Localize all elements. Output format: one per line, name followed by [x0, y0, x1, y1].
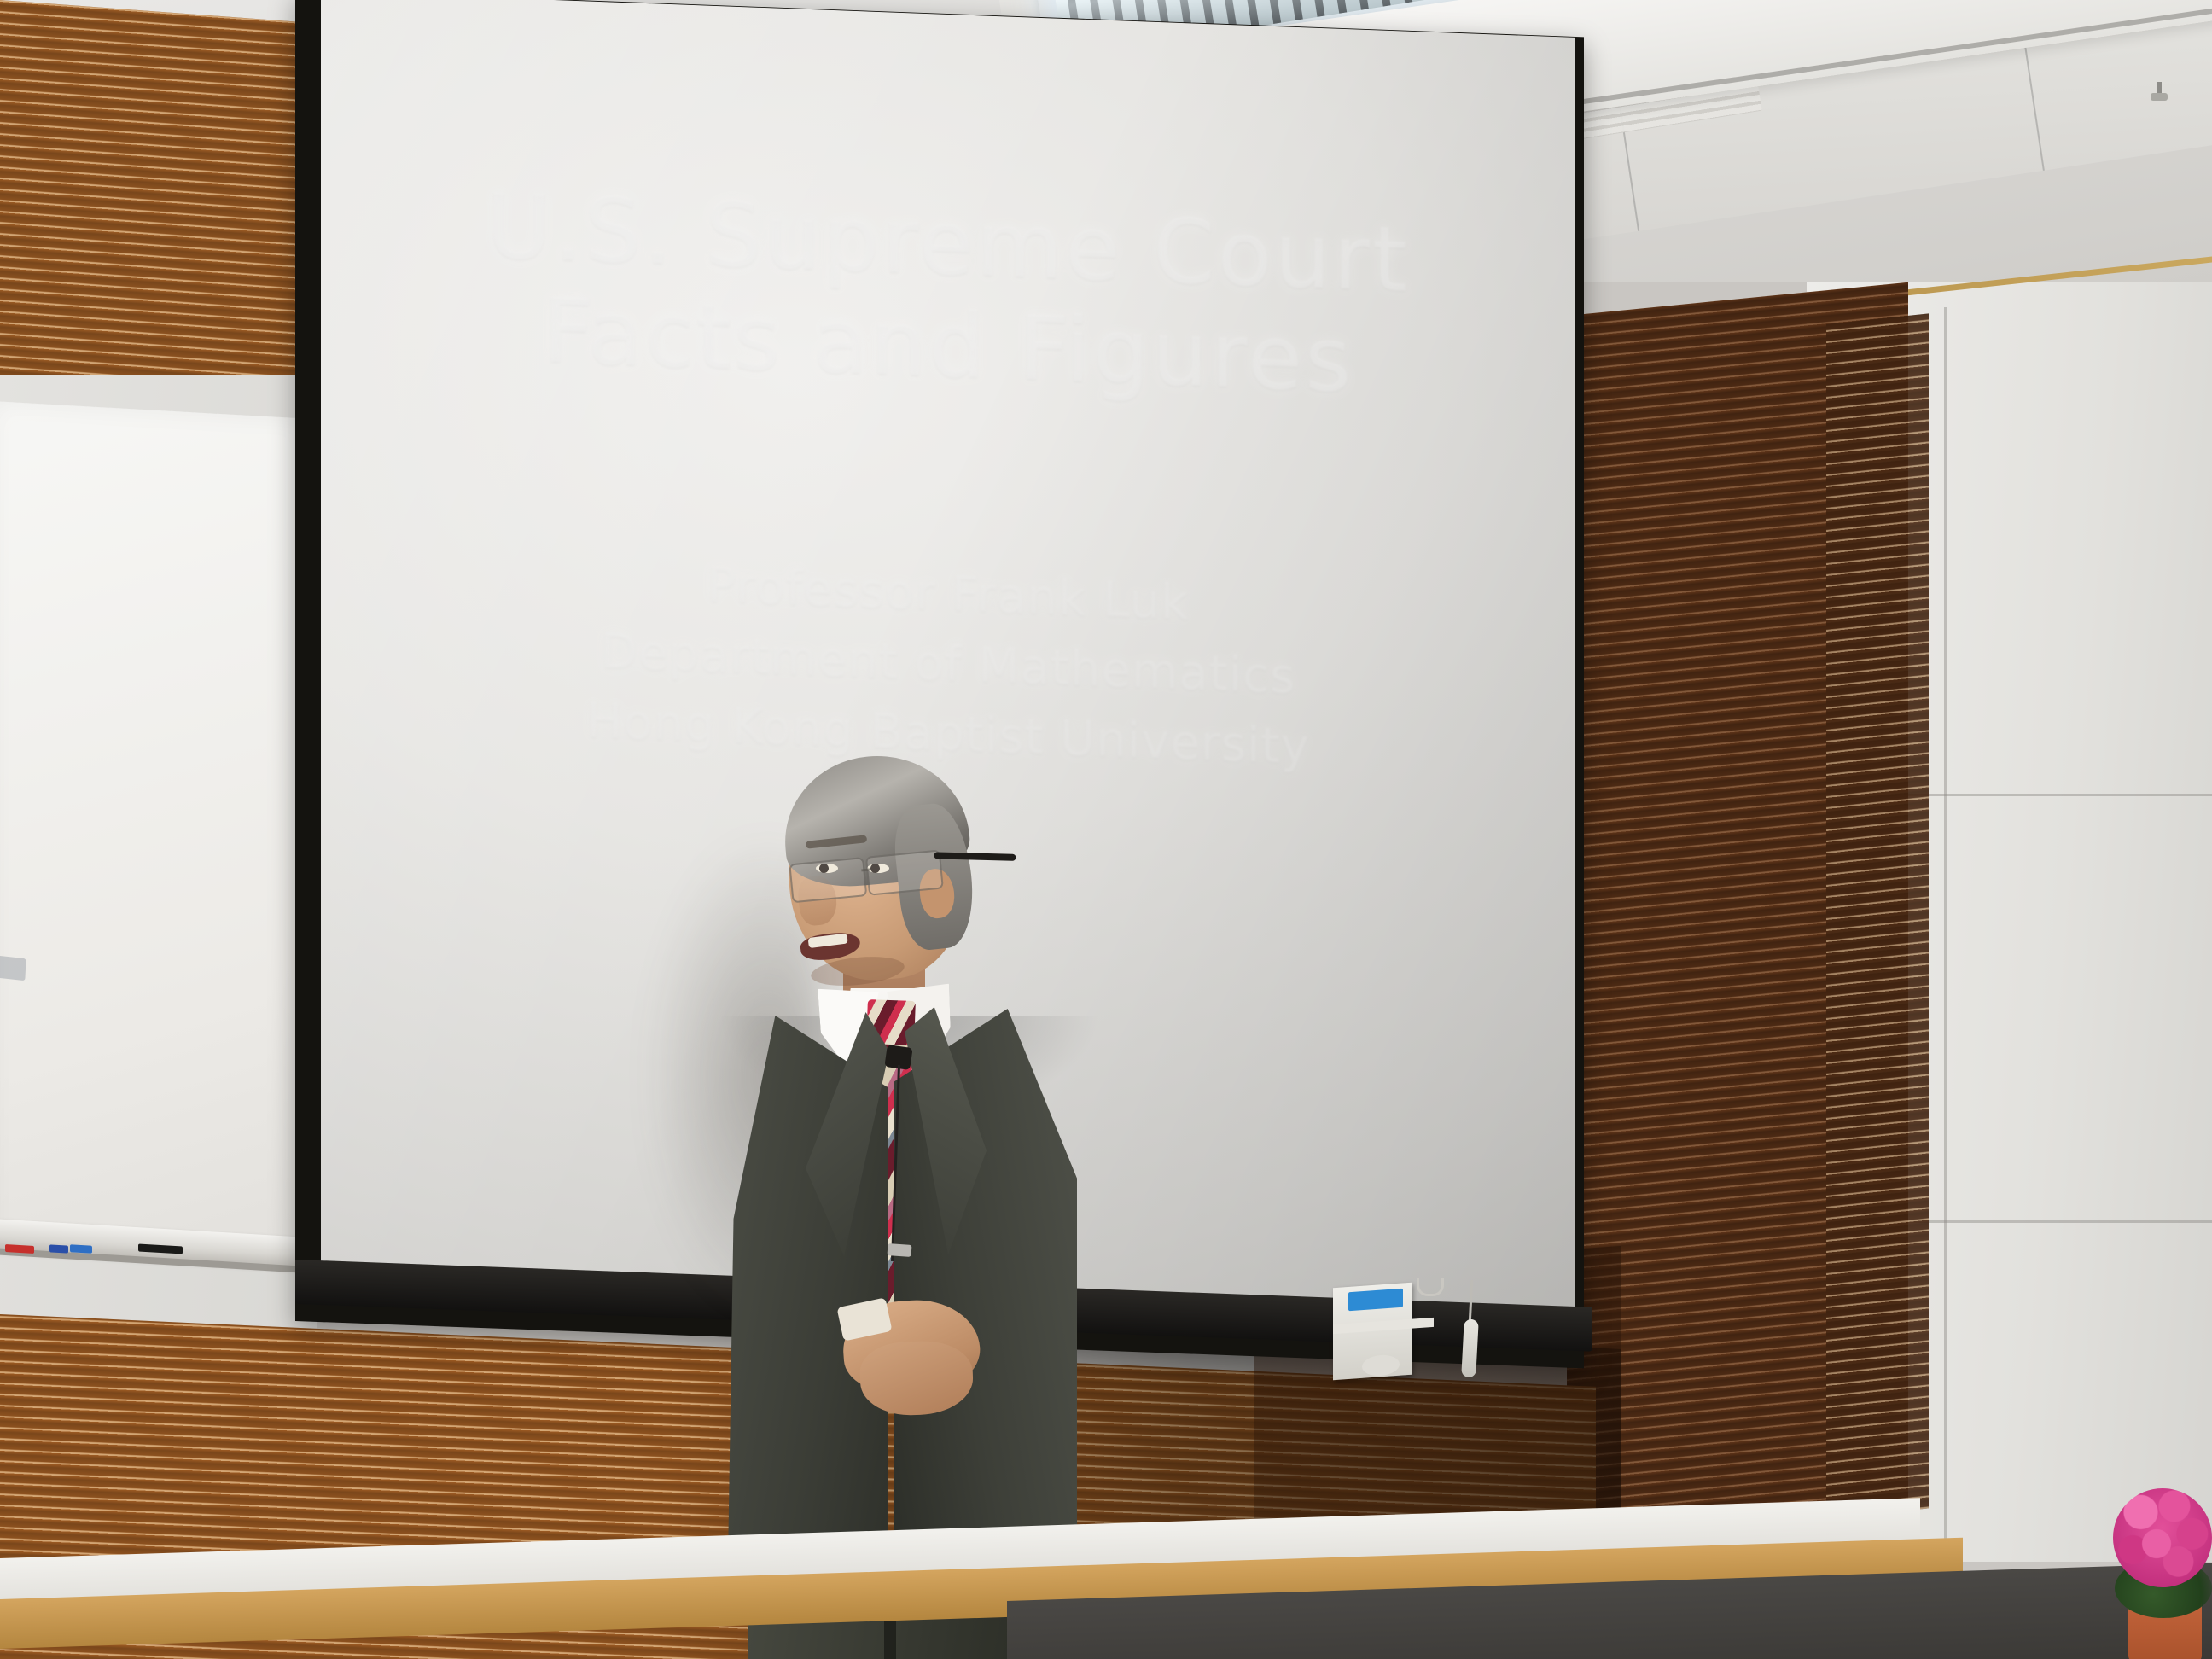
cord-hook-icon	[1417, 1278, 1444, 1296]
list-item[interactable]	[5, 1244, 34, 1254]
whiteboard-smudge	[0, 955, 26, 981]
lens-left	[789, 857, 867, 903]
microphone-wire-clip	[888, 1243, 912, 1257]
list-item[interactable]	[70, 1244, 92, 1254]
lens-right	[865, 849, 944, 895]
sprinkler-head-icon	[2151, 82, 2168, 104]
potted-flowers	[2113, 1488, 2212, 1587]
wood-panel-right-column	[1826, 313, 1929, 1519]
wood-panel-upper-left	[0, 0, 300, 423]
list-item[interactable]	[49, 1244, 68, 1253]
speaker	[717, 760, 1101, 1659]
whiteboard[interactable]	[0, 401, 312, 1264]
glasses-temple	[934, 852, 1016, 861]
screen-pull-handle[interactable]	[1461, 1319, 1479, 1378]
teeth	[808, 934, 848, 949]
bracket-blue-label	[1348, 1289, 1403, 1311]
lecture-room-photo: U.S. Supreme Court Facts and Figures Pro…	[0, 0, 2212, 1659]
